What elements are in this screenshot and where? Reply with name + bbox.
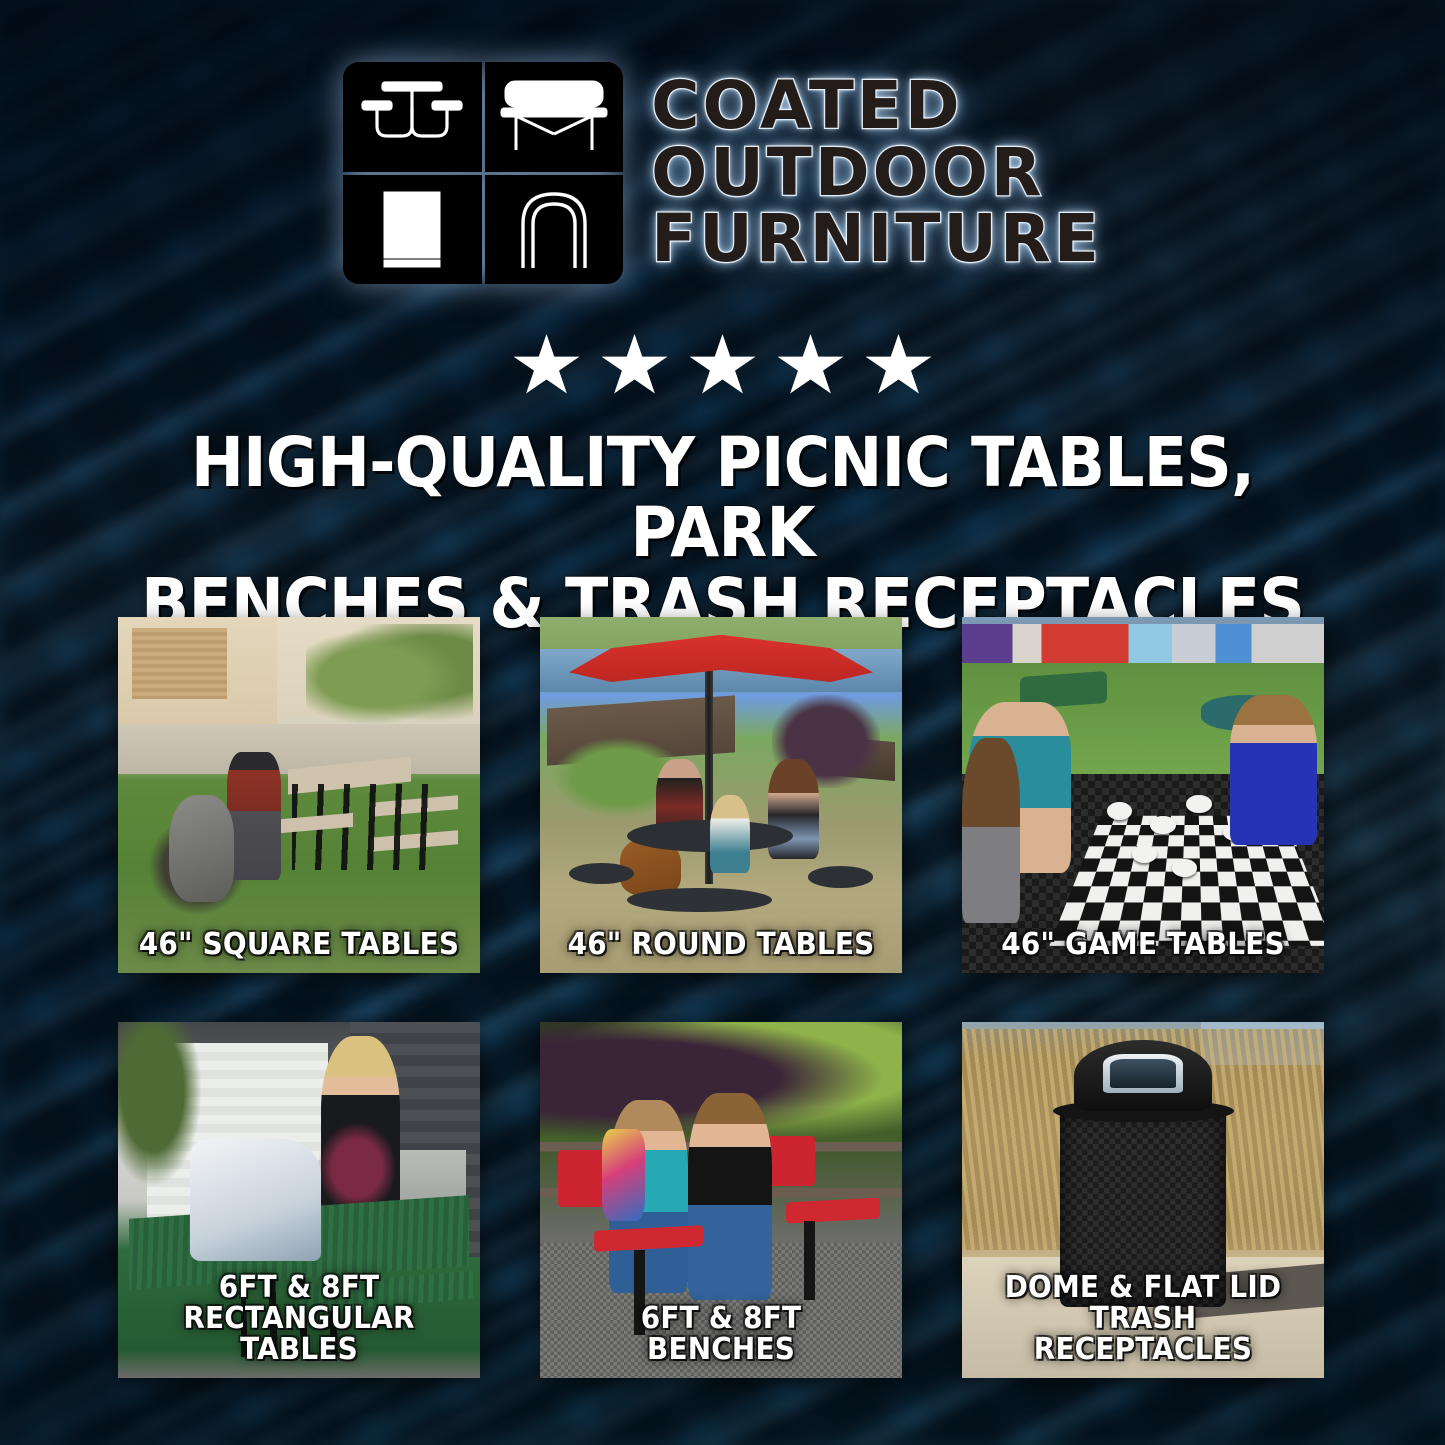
star-rating xyxy=(0,334,1445,398)
star-icon xyxy=(866,334,932,398)
caption-line: 6FT & 8FT xyxy=(558,1304,884,1335)
trash-receptacle-icon xyxy=(343,175,482,285)
product-caption: 46" SQUARE TABLES xyxy=(136,930,462,961)
caption-line: 46" SQUARE TABLES xyxy=(136,930,462,961)
product-tile-benches[interactable]: 6FT & 8FT BENCHES xyxy=(540,1022,902,1378)
brand-logo: COATED OUTDOOR FURNITURE xyxy=(0,62,1445,284)
product-caption: DOME & FLAT LID TRASH RECEPTACLES xyxy=(980,1273,1306,1366)
star-icon xyxy=(778,334,844,398)
caption-line: DOME & FLAT LID xyxy=(980,1273,1306,1304)
brand-line-1: COATED xyxy=(651,74,1102,139)
product-caption: 6FT & 8FT BENCHES xyxy=(558,1304,884,1366)
brand-line-2: OUTDOOR xyxy=(651,141,1102,206)
caption-line: TRASH RECEPTACLES xyxy=(980,1304,1306,1366)
brand-wordmark: COATED OUTDOOR FURNITURE xyxy=(651,74,1102,272)
product-caption: 46" ROUND TABLES xyxy=(558,930,884,961)
square-tables-photo xyxy=(118,617,480,973)
caption-line: 6FT & 8FT xyxy=(136,1273,462,1304)
caption-line: BENCHES xyxy=(558,1335,884,1366)
caption-line: 46" GAME TABLES xyxy=(980,930,1306,961)
headline-line-1: HIGH-QUALITY PICNIC TABLES, PARK xyxy=(113,428,1332,569)
picnic-table-icon xyxy=(343,62,482,172)
star-icon xyxy=(514,334,580,398)
round-tables-photo xyxy=(540,617,902,973)
star-icon xyxy=(602,334,668,398)
product-tile-round-tables[interactable]: 46" ROUND TABLES xyxy=(540,617,902,973)
marketing-poster: COATED OUTDOOR FURNITURE HIGH-QUALITY PI… xyxy=(0,0,1445,1445)
caption-line: RECTANGULAR TABLES xyxy=(136,1304,462,1366)
star-icon xyxy=(690,334,756,398)
brand-line-3: FURNITURE xyxy=(651,207,1102,272)
product-caption: 6FT & 8FT RECTANGULAR TABLES xyxy=(136,1273,462,1366)
product-grid: 46" SQUARE TABLES 46" ROUND TABLES xyxy=(118,617,1325,1378)
bench-icon xyxy=(485,62,624,172)
product-caption: 46" GAME TABLES xyxy=(980,930,1306,961)
bike-rack-icon xyxy=(485,175,624,285)
caption-line: 46" ROUND TABLES xyxy=(558,930,884,961)
product-tile-game-tables[interactable]: 46" GAME TABLES xyxy=(962,617,1324,973)
product-tile-rectangular-tables[interactable]: 6FT & 8FT RECTANGULAR TABLES xyxy=(118,1022,480,1378)
game-tables-photo xyxy=(962,617,1324,973)
product-tile-square-tables[interactable]: 46" SQUARE TABLES xyxy=(118,617,480,973)
logo-icon-grid xyxy=(343,62,623,284)
product-tile-trash-receptacles[interactable]: DOME & FLAT LID TRASH RECEPTACLES xyxy=(962,1022,1324,1378)
headline: HIGH-QUALITY PICNIC TABLES, PARK BENCHES… xyxy=(113,428,1332,639)
